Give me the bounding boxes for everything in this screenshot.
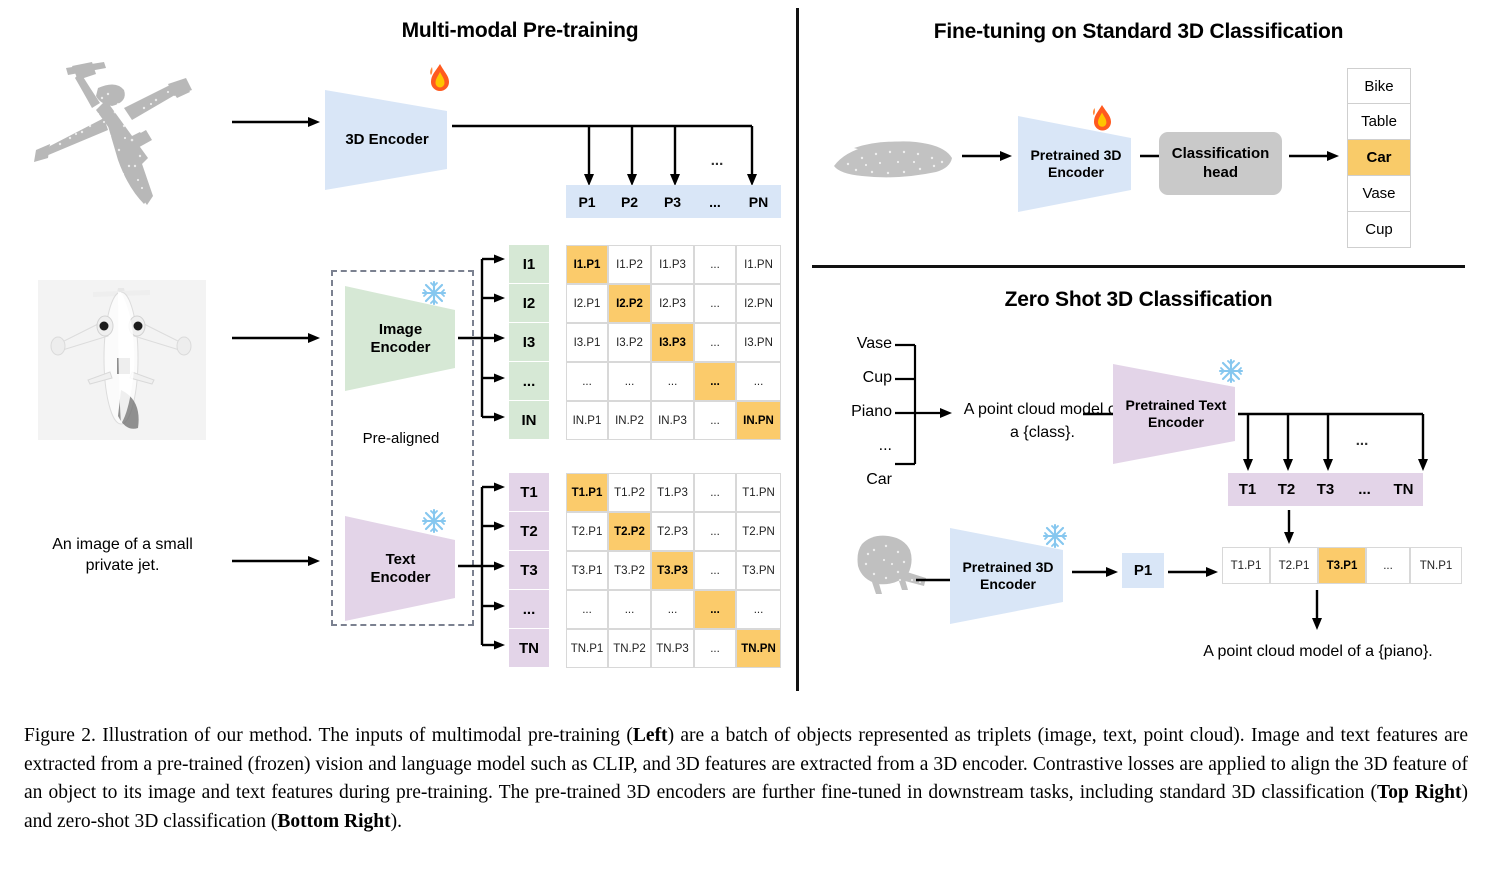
- matrix-row: T3.P1 T3.P2 T3.P3 ... T3.PN: [566, 551, 781, 590]
- fire-icon: [425, 63, 455, 96]
- matrix-cell: I1.P1: [566, 245, 608, 284]
- matrix-cell: ...: [694, 512, 736, 551]
- matrix-cell: IN.P1: [566, 401, 608, 440]
- zs-3d-encoder-label-line1: Pretrained 3D: [962, 559, 1053, 575]
- t-chip: T2: [1267, 473, 1306, 506]
- input-text-caption-value: An image of a small private jet.: [52, 536, 193, 574]
- text-similarity-matrix: T1.P1 T1.P2 T1.P3 ... T1.PN T2.P1 T2.P2 …: [566, 473, 781, 668]
- i-chip: I1: [509, 245, 549, 283]
- matrix-cell: ...: [694, 245, 736, 284]
- arrow-encoder-to-p1: [1072, 564, 1120, 580]
- matrix-cell: ...: [566, 590, 608, 629]
- bottom-right-panel-title: Zero Shot 3D Classification: [812, 288, 1465, 312]
- t-chip: T3: [509, 551, 549, 589]
- matrix-cell: I1.PN: [736, 245, 781, 284]
- airplane-point-cloud: [20, 48, 220, 218]
- matrix-cell: ...: [736, 362, 781, 401]
- arrow-p1-to-sim-row: [1168, 564, 1220, 580]
- sim-cell: TN.P1: [1410, 547, 1462, 584]
- ft-encoder-label-line2: Encoder: [1048, 164, 1104, 180]
- arrow-sim-to-result: [1308, 590, 1326, 632]
- class-item[interactable]: Vase: [1347, 176, 1411, 212]
- p-chip: ...: [694, 185, 736, 218]
- t-chip: ...: [1345, 473, 1384, 506]
- encoder-text-label-line2: Encoder: [370, 569, 430, 586]
- matrix-cell: ...: [694, 551, 736, 590]
- p-chip: PN: [736, 185, 781, 218]
- matrix-cell: ...: [694, 473, 736, 512]
- matrix-row: ... ... ... ... ...: [566, 590, 781, 629]
- t-chip: TN: [1384, 473, 1423, 506]
- matrix-cell: I2.PN: [736, 284, 781, 323]
- zeroshot-class-item: Cup: [826, 369, 892, 403]
- ft-encoder-label-line1: Pretrained 3D: [1030, 147, 1121, 163]
- bus-text-encoder-to-t-col: [458, 478, 510, 653]
- matrix-cell: I2.P3: [651, 284, 694, 323]
- matrix-cell: T2.P1: [566, 512, 608, 551]
- caption-part-0: Figure 2. Illustration of our method. Th…: [24, 725, 633, 746]
- image-similarity-matrix: I1.P1 I1.P2 I1.P3 ... I1.PN I2.P1 I2.P2 …: [566, 245, 781, 440]
- p-row-ellipsis-above: ...: [700, 152, 734, 169]
- matrix-cell: ...: [736, 590, 781, 629]
- i-chip: I2: [509, 284, 549, 322]
- matrix-row: I1.P1 I1.P2 I1.P3 ... I1.PN: [566, 245, 781, 284]
- t-chip: T3: [1306, 473, 1345, 506]
- class-item[interactable]: Table: [1347, 104, 1411, 140]
- matrix-cell: IN.P2: [608, 401, 651, 440]
- text-encoder-zs-label-line1: Pretrained Text: [1126, 397, 1227, 413]
- caption-bold-top-right: Top Right: [1377, 782, 1461, 803]
- encoder-3d-label: 3D Encoder: [345, 131, 428, 149]
- matrix-cell: ...: [566, 362, 608, 401]
- bus-text-encoder-to-t-row: [1238, 408, 1433, 474]
- right-panels-horizontal-divider: [812, 265, 1465, 268]
- encoder-3d: 3D Encoder: [325, 90, 455, 190]
- matrix-cell: ...: [694, 323, 736, 362]
- arrow-t3-down-to-sim-row: [1280, 510, 1298, 546]
- arrow-image-to-image-encoder: [232, 330, 322, 346]
- matrix-cell: ...: [694, 401, 736, 440]
- matrix-cell: TN.P2: [608, 629, 651, 668]
- arrow-text-to-text-encoder: [232, 553, 322, 569]
- matrix-cell: IN.P3: [651, 401, 694, 440]
- class-item[interactable]: Bike: [1347, 68, 1411, 104]
- matrix-cell: T3.P2: [608, 551, 651, 590]
- sim-cell: ...: [1366, 547, 1410, 584]
- p-chip: P2: [608, 185, 651, 218]
- classification-head-label-line1: Classification: [1172, 145, 1270, 162]
- jet-image-thumbnail: [38, 280, 206, 440]
- encoder-text-label-line1: Text: [386, 551, 416, 568]
- sim-cell: T1.P1: [1222, 547, 1270, 584]
- zeroshot-p1-feature: P1: [1122, 553, 1164, 588]
- t-row-ellipsis-above: ...: [1345, 432, 1379, 449]
- matrix-row: TN.P1 TN.P2 TN.P3 ... TN.PN: [566, 629, 781, 668]
- zeroshot-class-item: Vase: [826, 335, 892, 369]
- sim-cell-selected: T3.P1: [1318, 547, 1366, 584]
- i-column: I1 I2 I3 ... IN: [509, 245, 549, 439]
- encoder-image-label-line1: Image: [379, 321, 422, 338]
- matrix-cell: TN.PN: [736, 629, 781, 668]
- matrix-cell: I2.P2: [608, 284, 651, 323]
- matrix-cell: I2.P1: [566, 284, 608, 323]
- matrix-cell: T3.P1: [566, 551, 608, 590]
- matrix-cell: TN.P1: [566, 629, 608, 668]
- text-encoder-zs-label-line2: Encoder: [1148, 414, 1204, 430]
- panel-vertical-divider: [796, 8, 799, 691]
- fire-icon: [1088, 104, 1116, 135]
- matrix-row: I2.P1 I2.P2 I2.P3 ... I2.PN: [566, 284, 781, 323]
- matrix-cell: T1.P1: [566, 473, 608, 512]
- matrix-cell: T3.PN: [736, 551, 781, 590]
- top-right-panel-title: Fine-tuning on Standard 3D Classificatio…: [812, 20, 1465, 44]
- car-point-cloud: [828, 128, 958, 188]
- matrix-cell: T2.P2: [608, 512, 651, 551]
- snowflake-icon: [1042, 523, 1068, 549]
- matrix-cell: I1.P3: [651, 245, 694, 284]
- matrix-cell: ...: [608, 362, 651, 401]
- zeroshot-result-text: A point cloud model of a {piano}.: [1178, 642, 1458, 663]
- matrix-cell: ...: [694, 629, 736, 668]
- matrix-cell: I1.P2: [608, 245, 651, 284]
- matrix-cell: I3.P3: [651, 323, 694, 362]
- matrix-cell: ...: [651, 590, 694, 629]
- zeroshot-class-item: Car: [826, 471, 892, 505]
- snowflake-icon: [421, 508, 447, 534]
- t-chip: ...: [509, 590, 549, 628]
- t-chip: T2: [509, 512, 549, 550]
- matrix-cell: T1.P2: [608, 473, 651, 512]
- classification-head-label-line2: head: [1203, 164, 1238, 181]
- prompt-line2: a {class}.: [1010, 424, 1075, 441]
- matrix-row: T1.P1 T1.P2 T1.P3 ... T1.PN: [566, 473, 781, 512]
- figure-caption: Figure 2. Illustration of our method. Th…: [24, 722, 1468, 837]
- zeroshot-similarity-row: T1.P1 T2.P1 T3.P1 ... TN.P1: [1222, 547, 1462, 584]
- classification-head: Classification head: [1159, 132, 1282, 195]
- input-text-caption: An image of a small private jet.: [30, 535, 215, 577]
- zs-3d-encoder-label-line2: Encoder: [980, 576, 1036, 592]
- p-chip: P3: [651, 185, 694, 218]
- matrix-cell: I3.P1: [566, 323, 608, 362]
- matrix-cell: IN.PN: [736, 401, 781, 440]
- matrix-cell: I3.P2: [608, 323, 651, 362]
- arrow-pointcloud-to-3d-encoder: [232, 114, 322, 130]
- snowflake-icon: [1218, 358, 1244, 384]
- matrix-row: T2.P1 T2.P2 T2.P3 ... T2.PN: [566, 512, 781, 551]
- matrix-cell: T3.P3: [651, 551, 694, 590]
- matrix-cell: ...: [694, 284, 736, 323]
- sim-cell: T2.P1: [1270, 547, 1318, 584]
- matrix-cell: ...: [694, 590, 736, 629]
- encoder-image-label-line2: Encoder: [370, 339, 430, 356]
- matrix-cell: T1.P3: [651, 473, 694, 512]
- encoder-pretrained-3d-finetune: Pretrained 3D Encoder: [1018, 116, 1138, 212]
- matrix-cell: ...: [651, 362, 694, 401]
- matrix-cell: T1.PN: [736, 473, 781, 512]
- zeroshot-t-row: T1 T2 T3 ... TN: [1228, 473, 1423, 506]
- caption-part-6: ).: [391, 811, 402, 832]
- matrix-cell: TN.P3: [651, 629, 694, 668]
- arrow-head-to-classes: [1289, 148, 1341, 164]
- zeroshot-class-item: Piano: [826, 403, 892, 437]
- zeroshot-class-list: Vase Cup Piano ... Car: [826, 335, 892, 505]
- matrix-cell: ...: [694, 362, 736, 401]
- arrow-car-to-encoder: [962, 148, 1014, 164]
- matrix-cell: ...: [608, 590, 651, 629]
- matrix-row: I3.P1 I3.P2 I3.P3 ... I3.PN: [566, 323, 781, 362]
- left-panel-title: Multi-modal Pre-training: [260, 19, 780, 43]
- t-chip: T1: [509, 473, 549, 511]
- class-item[interactable]: Cup: [1347, 212, 1411, 248]
- classification-class-list: Bike Table Car Vase Cup: [1347, 68, 1411, 248]
- t-chip: TN: [509, 629, 549, 667]
- matrix-cell: T2.PN: [736, 512, 781, 551]
- caption-bold-left: Left: [633, 725, 668, 746]
- i-chip: IN: [509, 401, 549, 439]
- matrix-row: ... ... ... ... ...: [566, 362, 781, 401]
- snowflake-icon: [421, 280, 447, 306]
- p-chip: P1: [566, 185, 608, 218]
- i-chip: ...: [509, 362, 549, 400]
- caption-bold-bottom-right: Bottom Right: [277, 811, 390, 832]
- bus-image-encoder-to-i-col: [458, 250, 510, 425]
- pre-aligned-label: Pre-aligned: [336, 430, 466, 447]
- t-chip: T1: [1228, 473, 1267, 506]
- figure-root: Multi-modal Pre-training: [0, 0, 1490, 888]
- class-item-selected[interactable]: Car: [1347, 140, 1411, 176]
- t-column: T1 T2 T3 ... TN: [509, 473, 549, 667]
- zeroshot-class-item: ...: [826, 437, 892, 471]
- i-chip: I3: [509, 323, 549, 361]
- p-row: P1 P2 P3 ... PN: [566, 185, 781, 218]
- matrix-cell: T2.P3: [651, 512, 694, 551]
- matrix-cell: I3.PN: [736, 323, 781, 362]
- matrix-row: IN.P1 IN.P2 IN.P3 ... IN.PN: [566, 401, 781, 440]
